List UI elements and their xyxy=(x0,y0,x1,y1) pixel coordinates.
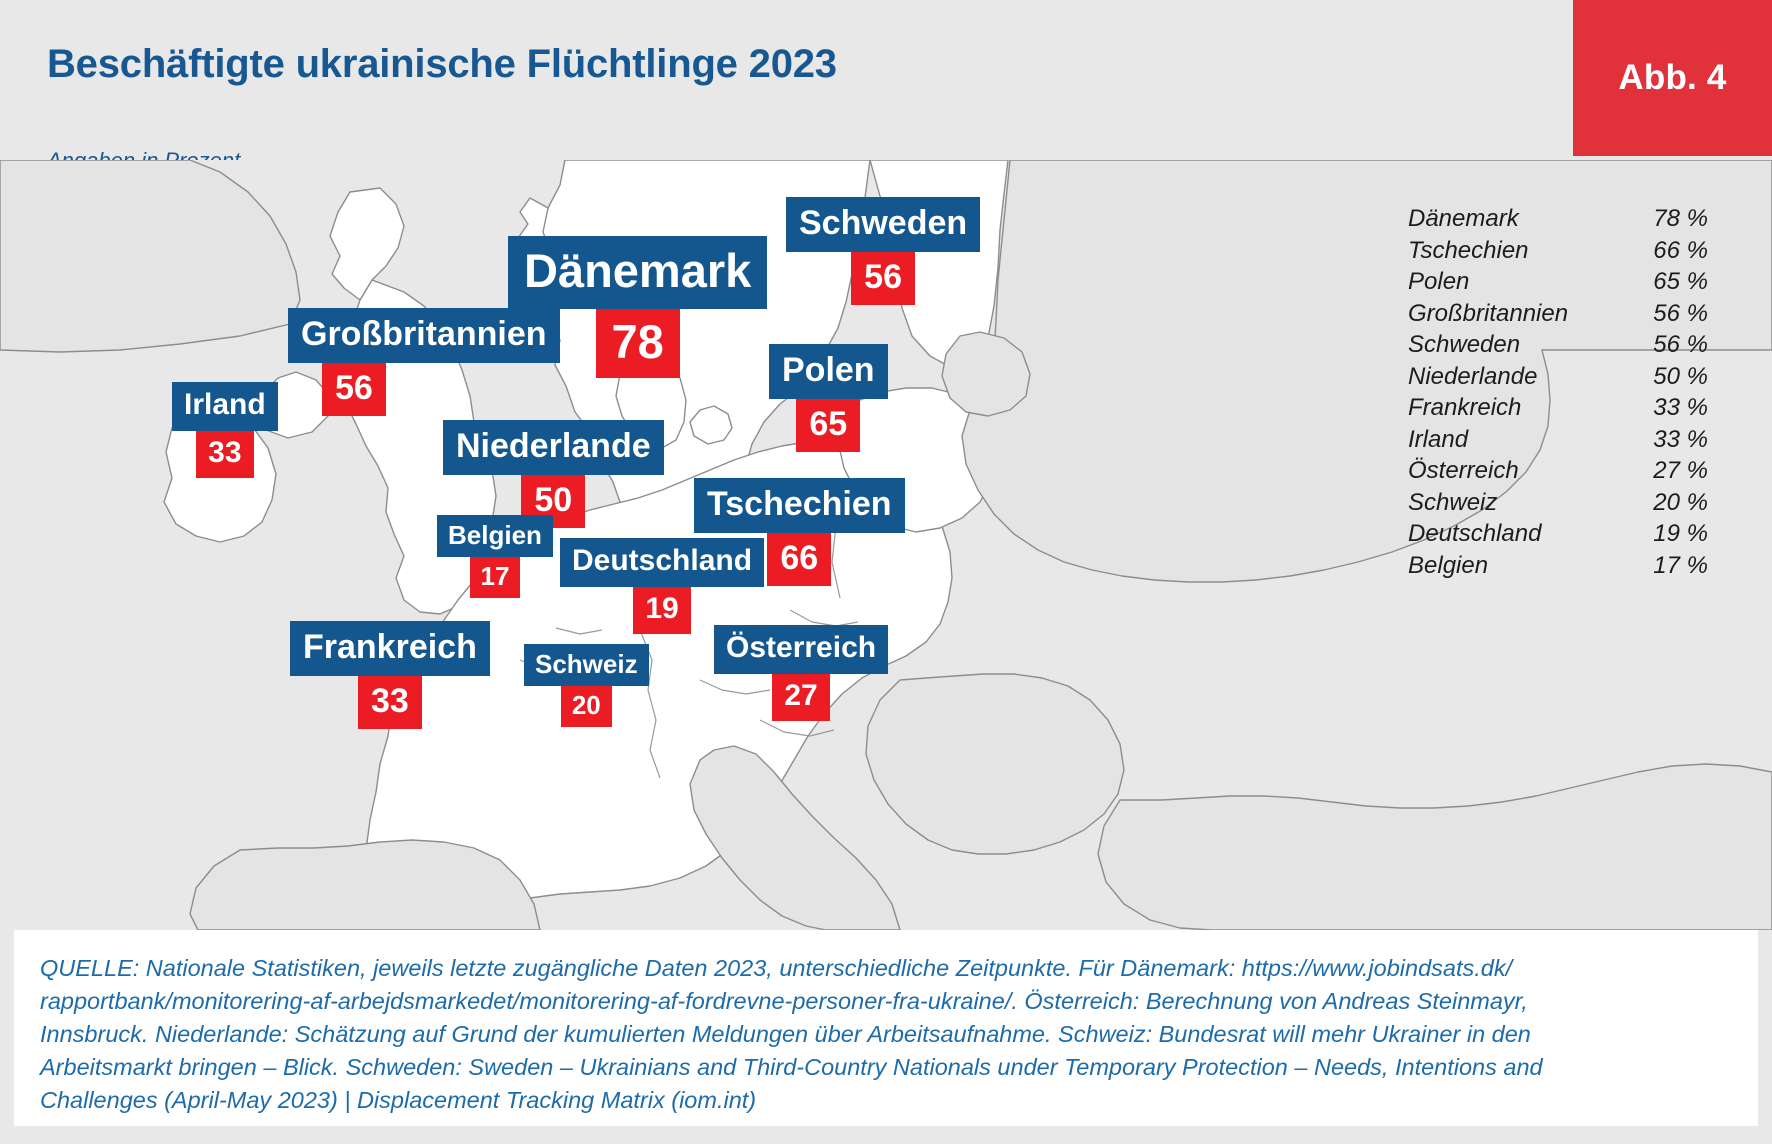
callout-country-label: Schweden xyxy=(786,197,980,252)
map-callout-frankreich[interactable]: Frankreich 33 xyxy=(290,621,490,729)
map-callout-schweden[interactable]: Schweden 56 xyxy=(786,197,980,305)
iberia-landmass xyxy=(190,840,540,930)
legend-value: 65 % xyxy=(1622,266,1708,298)
callout-country-label: Tschechien xyxy=(694,478,905,533)
legend-value: 50 % xyxy=(1622,361,1708,393)
legend-country: Dänemark xyxy=(1408,203,1519,235)
legend-row: Tschechien 66 % xyxy=(1408,235,1708,267)
legend-country: Frankreich xyxy=(1408,392,1521,424)
legend-value: 78 % xyxy=(1622,203,1708,235)
callout-value: 78 xyxy=(596,309,680,378)
legend-country: Tschechien xyxy=(1408,235,1529,267)
legend-country: Schweiz xyxy=(1408,487,1497,519)
map-callout-polen[interactable]: Polen 65 xyxy=(769,344,888,452)
legend-row: Belgien 17 % xyxy=(1408,550,1708,582)
callout-value: 66 xyxy=(767,533,831,586)
map-callout-niederlande[interactable]: Niederlande 50 xyxy=(443,420,664,528)
legend-value: 19 % xyxy=(1622,518,1708,550)
callout-country-label: Polen xyxy=(769,344,888,399)
legend-country: Belgien xyxy=(1408,550,1488,582)
figure-number-badge: Abb. 4 xyxy=(1573,0,1772,156)
callout-country-label: Dänemark xyxy=(508,236,767,309)
legend-value: 17 % xyxy=(1622,550,1708,582)
source-line: Challenges (April-May 2023) | Displaceme… xyxy=(40,1084,1732,1117)
map-callout-oesterreich[interactable]: Österreich 27 xyxy=(714,625,888,721)
legend-row: Frankreich 33 % xyxy=(1408,392,1708,424)
callout-country-label: Niederlande xyxy=(443,420,664,475)
map-callout-belgien[interactable]: Belgien 17 xyxy=(437,515,553,598)
callout-value-wrap: 65 xyxy=(769,399,888,452)
source-line: rapportbank/monitorering-af-arbejdsmarke… xyxy=(40,985,1732,1018)
callout-value-wrap: 17 xyxy=(437,557,553,598)
legend-country: Schweden xyxy=(1408,329,1520,361)
callout-country-label: Großbritannien xyxy=(288,308,560,363)
legend-value: 56 % xyxy=(1622,329,1708,361)
callout-value: 20 xyxy=(561,686,612,727)
legend-country: Niederlande xyxy=(1408,361,1537,393)
callout-value-wrap: 27 xyxy=(714,674,888,721)
legend-value: 66 % xyxy=(1622,235,1708,267)
infographic-figure: Beschäftigte ukrainische Flüchtlinge 202… xyxy=(0,0,1772,1144)
legend-value: 27 % xyxy=(1622,455,1708,487)
legend-country: Deutschland xyxy=(1408,518,1541,550)
callout-country-label: Irland xyxy=(172,382,278,431)
callout-value-wrap: 56 xyxy=(786,252,980,305)
legend-row: Deutschland 19 % xyxy=(1408,518,1708,550)
legend-value: 33 % xyxy=(1622,392,1708,424)
legend-value: 33 % xyxy=(1622,424,1708,456)
callout-value-wrap: 33 xyxy=(172,431,278,478)
callout-value: 65 xyxy=(796,399,860,452)
callout-country-label: Österreich xyxy=(714,625,888,674)
legend-value: 56 % xyxy=(1622,298,1708,330)
legend-row: Österreich 27 % xyxy=(1408,455,1708,487)
legend-row: Schweiz 20 % xyxy=(1408,487,1708,519)
legend-value: 20 % xyxy=(1622,487,1708,519)
legend-row: Schweden 56 % xyxy=(1408,329,1708,361)
callout-value: 33 xyxy=(196,431,253,478)
legend-row: Polen 65 % xyxy=(1408,266,1708,298)
map-callout-schweiz[interactable]: Schweiz 20 xyxy=(524,644,649,727)
callout-country-label: Schweiz xyxy=(524,644,649,686)
map-callout-deutschland[interactable]: Deutschland 19 xyxy=(560,538,764,634)
legend-row: Dänemark 78 % xyxy=(1408,203,1708,235)
legend-table: Dänemark 78 % Tschechien 66 % Polen 65 %… xyxy=(1408,203,1708,581)
source-line: Arbeitsmarkt bringen – Blick. Schweden: … xyxy=(40,1051,1732,1084)
callout-value-wrap: 33 xyxy=(290,676,490,729)
callout-value: 17 xyxy=(470,557,521,598)
page-title: Beschäftigte ukrainische Flüchtlinge 202… xyxy=(47,42,837,87)
legend-country: Polen xyxy=(1408,266,1469,298)
callout-value: 56 xyxy=(322,363,386,416)
callout-value: 56 xyxy=(851,252,915,305)
source-note: QUELLE: Nationale Statistiken, jeweils l… xyxy=(14,930,1758,1126)
callout-country-label: Belgien xyxy=(437,515,553,557)
callout-country-label: Frankreich xyxy=(290,621,490,676)
legend-row: Niederlande 50 % xyxy=(1408,361,1708,393)
callout-country-label: Deutschland xyxy=(560,538,764,587)
callout-value: 33 xyxy=(358,676,422,729)
source-line: Innsbruck. Niederlande: Schätzung auf Gr… xyxy=(40,1018,1732,1051)
source-line: QUELLE: Nationale Statistiken, jeweils l… xyxy=(40,952,1732,985)
legend-row: Irland 33 % xyxy=(1408,424,1708,456)
map-callout-grossbritannien[interactable]: Großbritannien 56 xyxy=(288,308,560,416)
callout-value-wrap: 20 xyxy=(524,686,649,727)
callout-value-wrap: 56 xyxy=(288,363,560,416)
legend-country: Irland xyxy=(1408,424,1468,456)
legend-row: Großbritannien 56 % xyxy=(1408,298,1708,330)
callout-value: 19 xyxy=(633,587,690,634)
figure-number-label: Abb. 4 xyxy=(1618,58,1726,98)
map-callout-irland[interactable]: Irland 33 xyxy=(172,382,278,478)
legend-country: Österreich xyxy=(1408,455,1519,487)
legend-country: Großbritannien xyxy=(1408,298,1568,330)
callout-value: 27 xyxy=(772,674,829,721)
